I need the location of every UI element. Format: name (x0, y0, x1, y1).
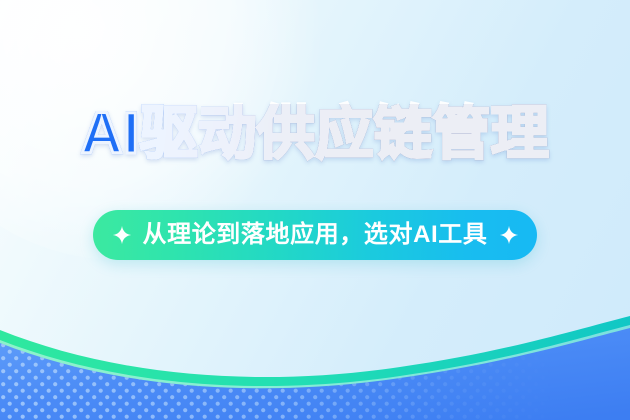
wave-decoration (0, 290, 630, 420)
sparkle-icon (112, 225, 132, 245)
subtitle-pill: 从理论到落地应用，选对AI工具 (93, 210, 537, 260)
hero-copy: AI驱动供应链管理 (0, 104, 630, 164)
dot-pattern (0, 290, 630, 420)
promo-banner: AI驱动供应链管理 从理论到落地应用，选对AI工具 (0, 0, 630, 420)
headline-title: AI驱动供应链管理 (0, 104, 630, 164)
subtitle-text: 从理论到落地应用，选对AI工具 (143, 223, 488, 247)
sparkle-icon (499, 225, 519, 245)
